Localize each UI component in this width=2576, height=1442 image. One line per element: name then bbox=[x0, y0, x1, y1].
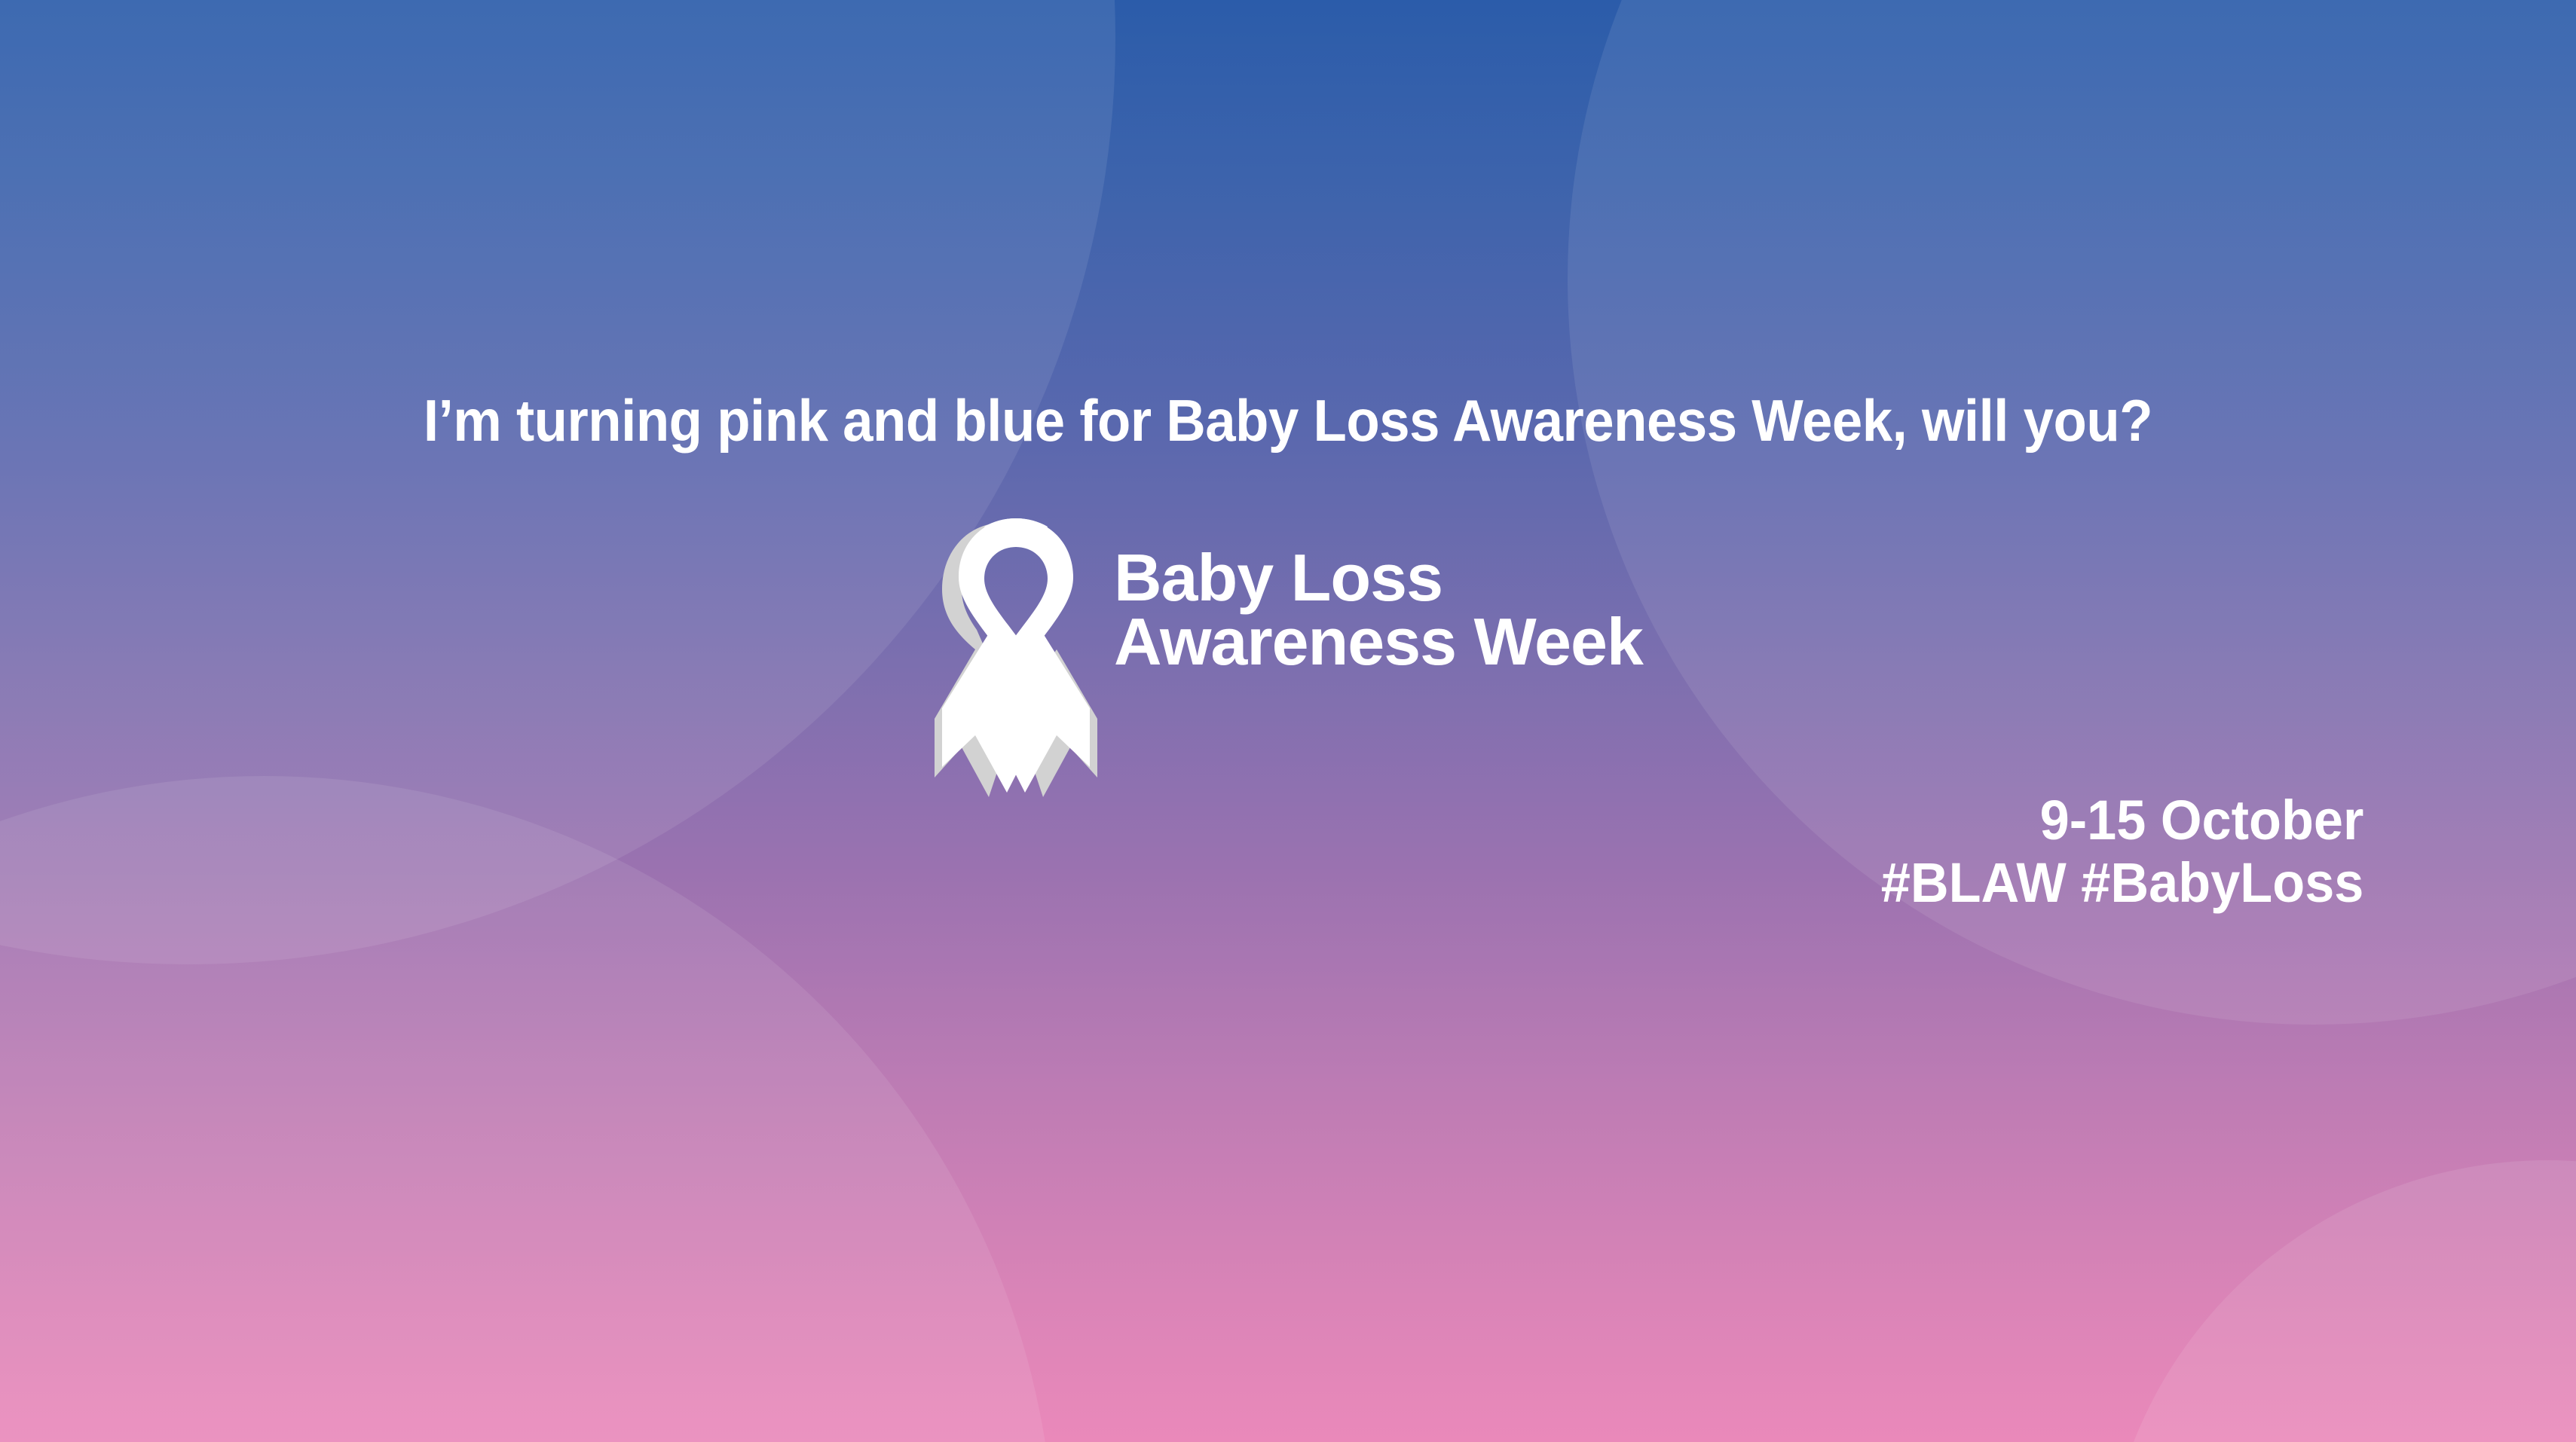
baby-loss-awareness-week-logo: Baby Loss Awareness Week bbox=[929, 517, 1643, 806]
baby-loss-awareness-week-banner: I’m turning pink and blue for Baby Loss … bbox=[0, 0, 2576, 1442]
awareness-ribbon-icon bbox=[929, 517, 1103, 806]
date-and-hashtag-block: 9-15 October #BLAW #BabyLoss bbox=[1880, 790, 2363, 915]
event-dates: 9-15 October bbox=[1880, 790, 2363, 852]
background-circle-top-left bbox=[0, 0, 1115, 964]
background-circle-bottom-right bbox=[2103, 1160, 2576, 1442]
event-hashtags: #BLAW #BabyLoss bbox=[1880, 852, 2363, 915]
logo-wordmark: Baby Loss Awareness Week bbox=[1114, 545, 1643, 674]
logo-line-awareness-week: Awareness Week bbox=[1114, 609, 1643, 674]
logo-line-baby-loss: Baby Loss bbox=[1114, 545, 1643, 609]
background-circle-bottom-left bbox=[0, 776, 1055, 1442]
headline-text: I’m turning pink and blue for Baby Loss … bbox=[90, 390, 2486, 452]
